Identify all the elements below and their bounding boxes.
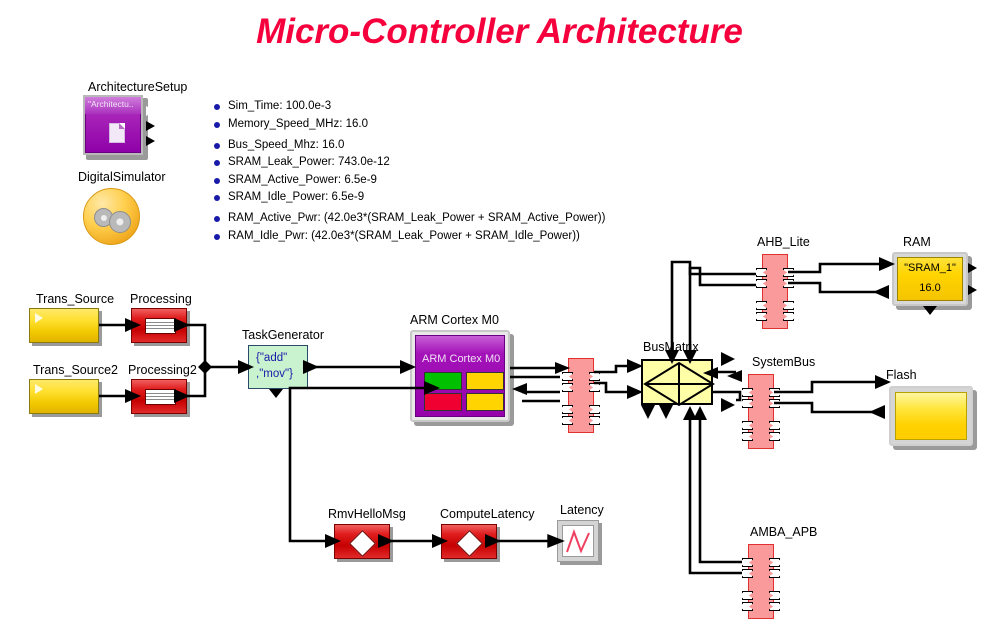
amba-apb-label: AMBA_APB xyxy=(750,525,817,539)
cpu-block[interactable]: ARM Cortex M0 xyxy=(410,330,510,422)
trans-source-block[interactable] xyxy=(29,308,99,343)
parameter-text: Sim_Time: 100.0e-3 xyxy=(228,100,331,112)
bowtie-port-icon[interactable] xyxy=(769,432,780,441)
bullet-icon xyxy=(214,195,220,201)
bowtie-port-icon[interactable] xyxy=(742,432,753,441)
ram-output-port-icon-1[interactable] xyxy=(968,263,977,273)
parameter-text: SRAM_Active_Power: 6.5e-9 xyxy=(228,174,377,186)
bullet-icon xyxy=(214,104,220,110)
bowtie-port-icon[interactable] xyxy=(769,399,780,408)
bus-matrix-diamond-icon xyxy=(643,361,715,407)
cpu-cell-yellow-bottom xyxy=(466,393,504,411)
ahb-lite-label: AHB_Lite xyxy=(757,235,810,249)
bowtie-port-icon[interactable] xyxy=(742,388,753,397)
port-output-icon-2[interactable] xyxy=(146,121,155,131)
ram-body: "SRAM_1" 16.0 xyxy=(897,257,963,301)
task-generator-line2: ,"mov"} xyxy=(256,368,293,380)
stack-icon xyxy=(145,389,176,405)
diamond-icon xyxy=(456,530,483,557)
parameter-text: Memory_Speed_MHz: 16.0 xyxy=(228,118,368,130)
bowtie-port-icon[interactable] xyxy=(769,558,780,567)
bullet-icon xyxy=(214,216,220,222)
architecture-setup-file-text: "Architectu.. xyxy=(88,99,134,109)
trans-source2-label: Trans_Source2 xyxy=(33,363,118,377)
page-title: Micro-Controller Architecture xyxy=(0,12,999,52)
parameter-item-bus-speed: Bus_Speed_Mhz: 16.0 xyxy=(214,139,634,152)
bowtie-port-icon[interactable] xyxy=(589,405,600,414)
parameter-text: SRAM_Leak_Power: 743.0e-12 xyxy=(228,156,390,168)
bullet-icon xyxy=(214,143,220,149)
bowtie-port-icon[interactable] xyxy=(589,416,600,425)
processing-block[interactable] xyxy=(131,308,187,343)
bus-matrix-block[interactable] xyxy=(641,359,713,405)
architecture-setup-block[interactable]: "Architectu.. xyxy=(83,95,143,155)
gear-icon-2 xyxy=(109,211,131,233)
bowtie-port-icon[interactable] xyxy=(783,301,794,310)
processing2-label: Processing2 xyxy=(128,363,197,377)
trans-source-label: Trans_Source xyxy=(36,292,114,306)
port-output-icon-1[interactable] xyxy=(146,106,155,116)
bowtie-port-icon[interactable] xyxy=(742,399,753,408)
play-icon xyxy=(35,313,43,323)
parameter-text: Bus_Speed_Mhz: 16.0 xyxy=(228,139,344,151)
bowtie-port-icon[interactable] xyxy=(742,591,753,600)
task-generator-output-port-icon[interactable] xyxy=(269,389,283,398)
cpu-label: ARM Cortex M0 xyxy=(410,313,499,327)
diamond-icon xyxy=(349,530,376,557)
cpu-cell-green xyxy=(424,372,462,390)
task-generator-label: TaskGenerator xyxy=(242,328,324,342)
task-generator-line1: {"add" xyxy=(256,352,287,364)
bowtie-port-icon[interactable] xyxy=(769,421,780,430)
cpu-cell-red xyxy=(424,393,462,411)
parameter-item-memory-speed: Memory_Speed_MHz: 16.0 xyxy=(214,118,634,131)
compute-latency-label: ComputeLatency xyxy=(440,507,535,521)
bowtie-port-icon[interactable] xyxy=(783,279,794,288)
parameter-list: Sim_Time: 100.0e-3 Memory_Speed_MHz: 16.… xyxy=(214,100,634,247)
architecture-setup-label: ArchitectureSetup xyxy=(88,80,187,94)
bullet-icon xyxy=(214,178,220,184)
processing-label: Processing xyxy=(130,292,192,306)
bowtie-port-icon[interactable] xyxy=(742,602,753,611)
parameter-item-ram-idle-pwr: RAM_Idle_Pwr: (42.0e3*(SRAM_Leak_Power +… xyxy=(214,230,634,243)
bowtie-port-icon[interactable] xyxy=(589,372,600,381)
bowtie-port-icon[interactable] xyxy=(769,569,780,578)
bullet-icon xyxy=(214,160,220,166)
bowtie-port-icon[interactable] xyxy=(769,388,780,397)
waveform-icon xyxy=(563,526,595,558)
play-icon xyxy=(35,384,43,394)
bowtie-port-icon[interactable] xyxy=(562,383,573,392)
bowtie-port-icon[interactable] xyxy=(756,301,767,310)
task-generator-block[interactable]: {"add" ,"mov"} xyxy=(248,345,308,389)
bowtie-port-icon[interactable] xyxy=(783,268,794,277)
port-output-icon-3[interactable] xyxy=(146,136,155,146)
digital-simulator-block[interactable] xyxy=(83,188,140,245)
ram-block[interactable]: "SRAM_1" 16.0 xyxy=(892,252,968,306)
bowtie-port-icon[interactable] xyxy=(562,416,573,425)
stack-icon xyxy=(145,318,176,334)
bullet-icon xyxy=(214,122,220,128)
ram-line2: 16.0 xyxy=(898,282,962,294)
parameter-text: RAM_Active_Pwr: (42.0e3*(SRAM_Leak_Power… xyxy=(228,212,605,224)
parameter-item-sram-leak-power: SRAM_Leak_Power: 743.0e-12 xyxy=(214,156,634,169)
rmv-hello-msg-block[interactable] xyxy=(334,524,390,559)
bowtie-port-icon[interactable] xyxy=(756,279,767,288)
parameter-item-sram-active-power: SRAM_Active_Power: 6.5e-9 xyxy=(214,174,634,187)
bowtie-port-icon[interactable] xyxy=(742,569,753,578)
ram-line1: "SRAM_1" xyxy=(898,262,962,274)
bowtie-port-icon[interactable] xyxy=(756,312,767,321)
cpu-cell-yellow-top xyxy=(466,372,504,390)
cpu-body: ARM Cortex M0 xyxy=(415,335,505,417)
parameter-text: RAM_Idle_Pwr: (42.0e3*(SRAM_Leak_Power +… xyxy=(228,230,580,242)
parameter-item-sram-idle-power: SRAM_Idle_Power: 6.5e-9 xyxy=(214,191,634,204)
ram-output-port-icon-3[interactable] xyxy=(923,306,937,315)
bowtie-port-icon[interactable] xyxy=(562,372,573,381)
latency-label: Latency xyxy=(560,503,604,517)
bowtie-port-icon[interactable] xyxy=(783,312,794,321)
cpu-inner-label: ARM Cortex M0 xyxy=(422,353,500,365)
document-icon xyxy=(109,123,125,143)
bowtie-port-icon[interactable] xyxy=(742,421,753,430)
ram-output-port-icon-2[interactable] xyxy=(968,285,977,295)
bowtie-port-icon[interactable] xyxy=(769,602,780,611)
latency-scope-block[interactable] xyxy=(557,520,599,562)
bowtie-port-icon[interactable] xyxy=(742,558,753,567)
flash-body xyxy=(895,392,967,440)
bus-matrix-label: BusMatrix xyxy=(643,340,699,354)
bowtie-port-icon[interactable] xyxy=(756,268,767,277)
scope-face xyxy=(562,525,594,557)
parameter-item-ram-active-pwr: RAM_Active_Pwr: (42.0e3*(SRAM_Leak_Power… xyxy=(214,212,634,225)
digital-simulator-label: DigitalSimulator xyxy=(78,170,166,184)
flash-block[interactable] xyxy=(889,386,973,446)
rmv-hello-msg-label: RmvHelloMsg xyxy=(328,507,406,521)
compute-latency-block[interactable] xyxy=(441,524,497,559)
flash-label: Flash xyxy=(886,368,917,382)
diagram-canvas: Micro-Controller Architecture Sim_Time: … xyxy=(0,0,999,639)
processing2-block[interactable] xyxy=(131,379,187,414)
bowtie-port-icon[interactable] xyxy=(562,405,573,414)
parameter-text: SRAM_Idle_Power: 6.5e-9 xyxy=(228,191,364,203)
bowtie-port-icon[interactable] xyxy=(769,591,780,600)
bullet-icon xyxy=(214,234,220,240)
ram-label: RAM xyxy=(903,235,931,249)
parameter-item-sim-time: Sim_Time: 100.0e-3 xyxy=(214,100,634,113)
bowtie-port-icon[interactable] xyxy=(589,383,600,392)
system-bus-label: SystemBus xyxy=(752,355,815,369)
trans-source2-block[interactable] xyxy=(29,379,99,414)
